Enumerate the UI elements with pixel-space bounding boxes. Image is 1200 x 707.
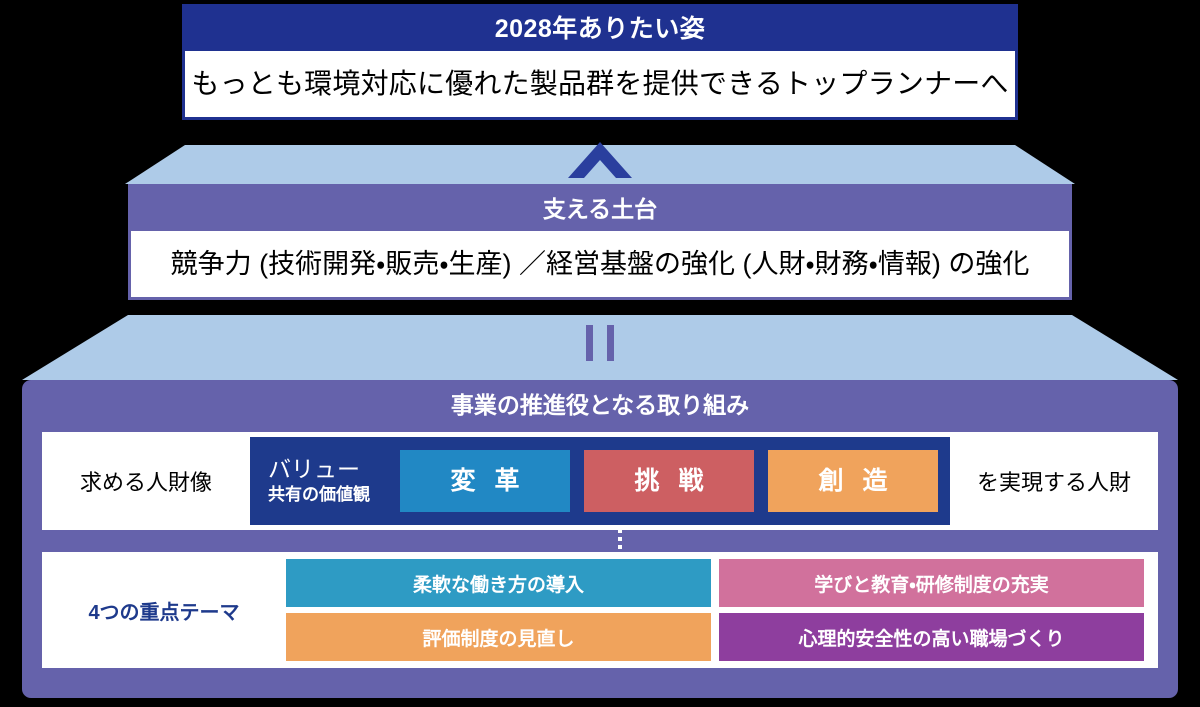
dotted-connector — [618, 530, 622, 552]
vision-box: 2028年ありたい姿 もっとも環境対応に優れた製品群を提供できるトップランナーへ — [182, 4, 1018, 120]
initiatives-panel: 事業の推進役となる取り組み 求める人財像 バリュー 共有の価値観 変 革 挑 戦… — [22, 380, 1178, 698]
talent-label-right: を実現する人財 — [950, 465, 1158, 497]
value-strip: バリュー 共有の価値観 変 革 挑 戦 創 造 — [250, 437, 950, 525]
equals-bar-left — [586, 325, 593, 361]
focus-themes-card: 4つの重点テーマ 柔軟な働き方の導入 学びと教育・研修制度の充実 評価制度の見直… — [42, 552, 1158, 668]
theme-chip-evaluation-review[interactable]: 評価制度の見直し — [286, 613, 711, 661]
equals-bar-right — [607, 325, 614, 361]
talent-profile-card: 求める人財像 バリュー 共有の価値観 変 革 挑 戦 創 造 を実現する人財 — [42, 432, 1158, 530]
talent-label-left: 求める人財像 — [42, 465, 250, 497]
value-label-sub: 共有の価値観 — [268, 483, 386, 507]
diagram-canvas: 2028年ありたい姿 もっとも環境対応に優れた製品群を提供できるトップランナーへ… — [0, 0, 1200, 707]
foundation-statement: 競争力 (技術開発・販売・生産) ／経営基盤の強化 (人財・財務・情報) の強化 — [131, 231, 1069, 297]
focus-themes-grid: 柔軟な働き方の導入 学びと教育・研修制度の充実 評価制度の見直し 心理的安全性の… — [286, 559, 1158, 661]
focus-themes-label: 4つの重点テーマ — [42, 596, 286, 625]
value-chip-change[interactable]: 変 革 — [400, 450, 570, 512]
vision-statement: もっとも環境対応に優れた製品群を提供できるトップランナーへ — [185, 51, 1015, 117]
foundation-header: 支える土台 — [131, 187, 1069, 231]
value-label-main: バリュー — [268, 455, 386, 483]
chevron-up-icon — [566, 140, 634, 182]
vision-header: 2028年ありたい姿 — [185, 7, 1015, 51]
foundation-box: 支える土台 競争力 (技術開発・販売・生産) ／経営基盤の強化 (人財・財務・情… — [128, 184, 1072, 300]
initiatives-title: 事業の推進役となる取り組み — [22, 380, 1178, 430]
theme-chip-flexible-work[interactable]: 柔軟な働き方の導入 — [286, 559, 711, 607]
equals-mark-icon — [586, 325, 614, 361]
value-chip-creation[interactable]: 創 造 — [768, 450, 938, 512]
theme-chip-learning-training[interactable]: 学びと教育・研修制度の充実 — [719, 559, 1144, 607]
theme-chip-psychological-safety[interactable]: 心理的安全性の高い職場づくり — [719, 613, 1144, 661]
value-chip-challenge[interactable]: 挑 戦 — [584, 450, 754, 512]
value-label: バリュー 共有の価値観 — [262, 455, 386, 507]
